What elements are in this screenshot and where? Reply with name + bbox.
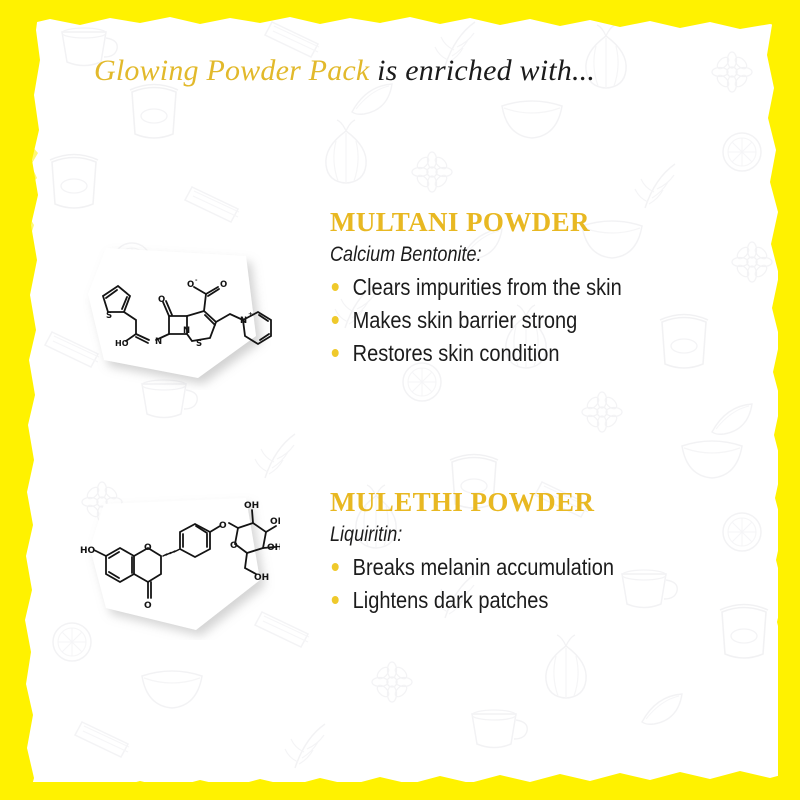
atom-label-oh-4: OH (254, 573, 269, 583)
atom-label-n1: N (155, 337, 162, 347)
atom-label-s1: S (106, 311, 112, 321)
list-item-label: Clears impurities from the skin (353, 274, 622, 300)
list-item: Lightens dark patches (330, 584, 695, 617)
poster-canvas: Glowing Powder Pack is enriched with... (0, 0, 800, 800)
atom-label-n3: N (240, 316, 247, 326)
list-item-label: Restores skin condition (353, 340, 560, 366)
list-item: Restores skin condition (330, 337, 695, 370)
list-item: Makes skin barrier strong (330, 304, 695, 337)
atom-label-n2: N (183, 326, 190, 336)
atom-label-o-glyco: O (219, 521, 227, 531)
molecule-card-mulethi: HO O O O O OH OH OH OH (70, 490, 280, 640)
atom-label-oh-2: OH (270, 517, 280, 527)
list-item-label: Lightens dark patches (353, 587, 549, 613)
bullet-dot-icon (332, 283, 339, 291)
list-item: Breaks melanin accumulation (330, 551, 695, 584)
list-item-label: Makes skin barrier strong (353, 307, 578, 333)
atom-label-o3: O (220, 280, 227, 290)
atom-label-o-ketone: O (144, 601, 152, 611)
liquiritin-structure: HO O O O O OH OH OH OH (70, 490, 280, 640)
section-subtitle-mulethi: Liquiritin: (330, 523, 691, 547)
atom-label-ho: HO (115, 339, 129, 348)
section-title-multani: MULTANI POWDER (330, 208, 750, 236)
page-title-rest: is enriched with... (369, 54, 595, 87)
section-mulethi: MULETHI POWDER Liquiritin: Breaks melani… (330, 488, 750, 617)
section-title-mulethi: MULETHI POWDER (330, 488, 750, 516)
section-multani: MULTANI POWDER Calcium Bentonite: Clears… (330, 208, 750, 369)
atom-label-o-sugar: O (230, 541, 238, 551)
page-title-brand: Glowing Powder Pack (94, 54, 369, 87)
bullet-dot-icon (332, 349, 339, 357)
cephaloridine-structure: S N HO O N S O O N - + (70, 240, 280, 390)
molecule-card-multani: S N HO O N S O O N - + (70, 240, 280, 390)
atom-label-o1: O (158, 295, 165, 305)
benefit-list-multani: Clears impurities from the skin Makes sk… (330, 271, 750, 369)
charge-plus: + (248, 311, 253, 318)
white-sheet: Glowing Powder Pack is enriched with... (22, 12, 778, 782)
benefit-list-mulethi: Breaks melanin accumulation Lightens dar… (330, 551, 750, 616)
bullet-dot-icon (332, 596, 339, 604)
atom-label-ho: HO (80, 546, 96, 556)
atom-label-oh-3: OH (267, 543, 280, 553)
molecule-card-backing (90, 498, 260, 630)
list-item-label: Breaks melanin accumulation (353, 554, 614, 580)
bullet-dot-icon (332, 316, 339, 324)
atom-label-o-ring: O (144, 543, 152, 553)
bullet-dot-icon (332, 563, 339, 571)
atom-label-oh-1: OH (244, 501, 259, 511)
atom-label-o2: O (187, 280, 194, 290)
page-title: Glowing Powder Pack is enriched with... (94, 54, 595, 88)
atom-label-s2: S (196, 339, 202, 349)
list-item: Clears impurities from the skin (330, 271, 695, 304)
section-subtitle-multani: Calcium Bentonite: (330, 243, 691, 267)
content-layer: Glowing Powder Pack is enriched with... (22, 12, 778, 782)
